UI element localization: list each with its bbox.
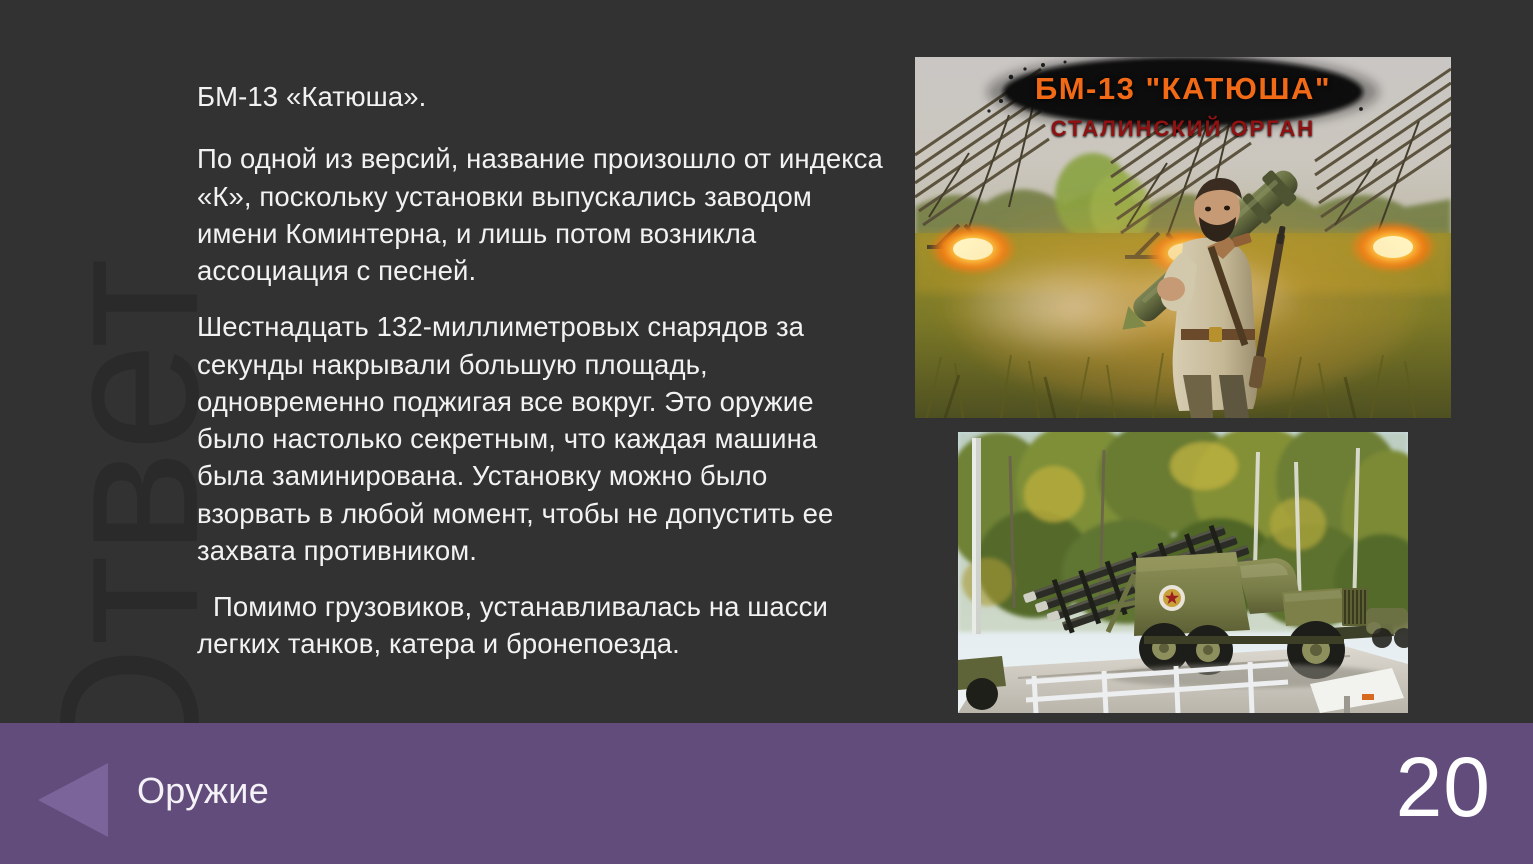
section-label: Оружие [137,773,269,809]
back-triangle-icon[interactable] [38,763,108,837]
paragraph-combat-characteristics: Шестнадцать 132-миллиметровых снарядов з… [197,308,887,569]
footer-bar: Оружие 20 [0,723,1533,864]
photo-katyusha-museum-art [958,432,1408,713]
body-text-column: БМ-13 «Катюша». По одной из версий, назв… [197,78,887,663]
photo-katyusha-salvo: БМ-13 "КАТЮША" СТАЛИНСКИЙ ОРГАН [915,57,1451,418]
paragraph-chassis-variants: Помимо грузовиков, устанавливалась на ша… [197,588,887,663]
paragraph-origin-of-name: По одной из версий, название произошло о… [197,140,887,289]
page-title: БМ-13 «Катюша». [197,78,887,115]
page-number: 20 [1396,745,1491,829]
slide: Ответ БМ-13 «Катюша». По одной из версий… [0,0,1533,864]
photo-katyusha-museum [958,432,1408,713]
photo-katyusha-salvo-art [915,57,1451,418]
